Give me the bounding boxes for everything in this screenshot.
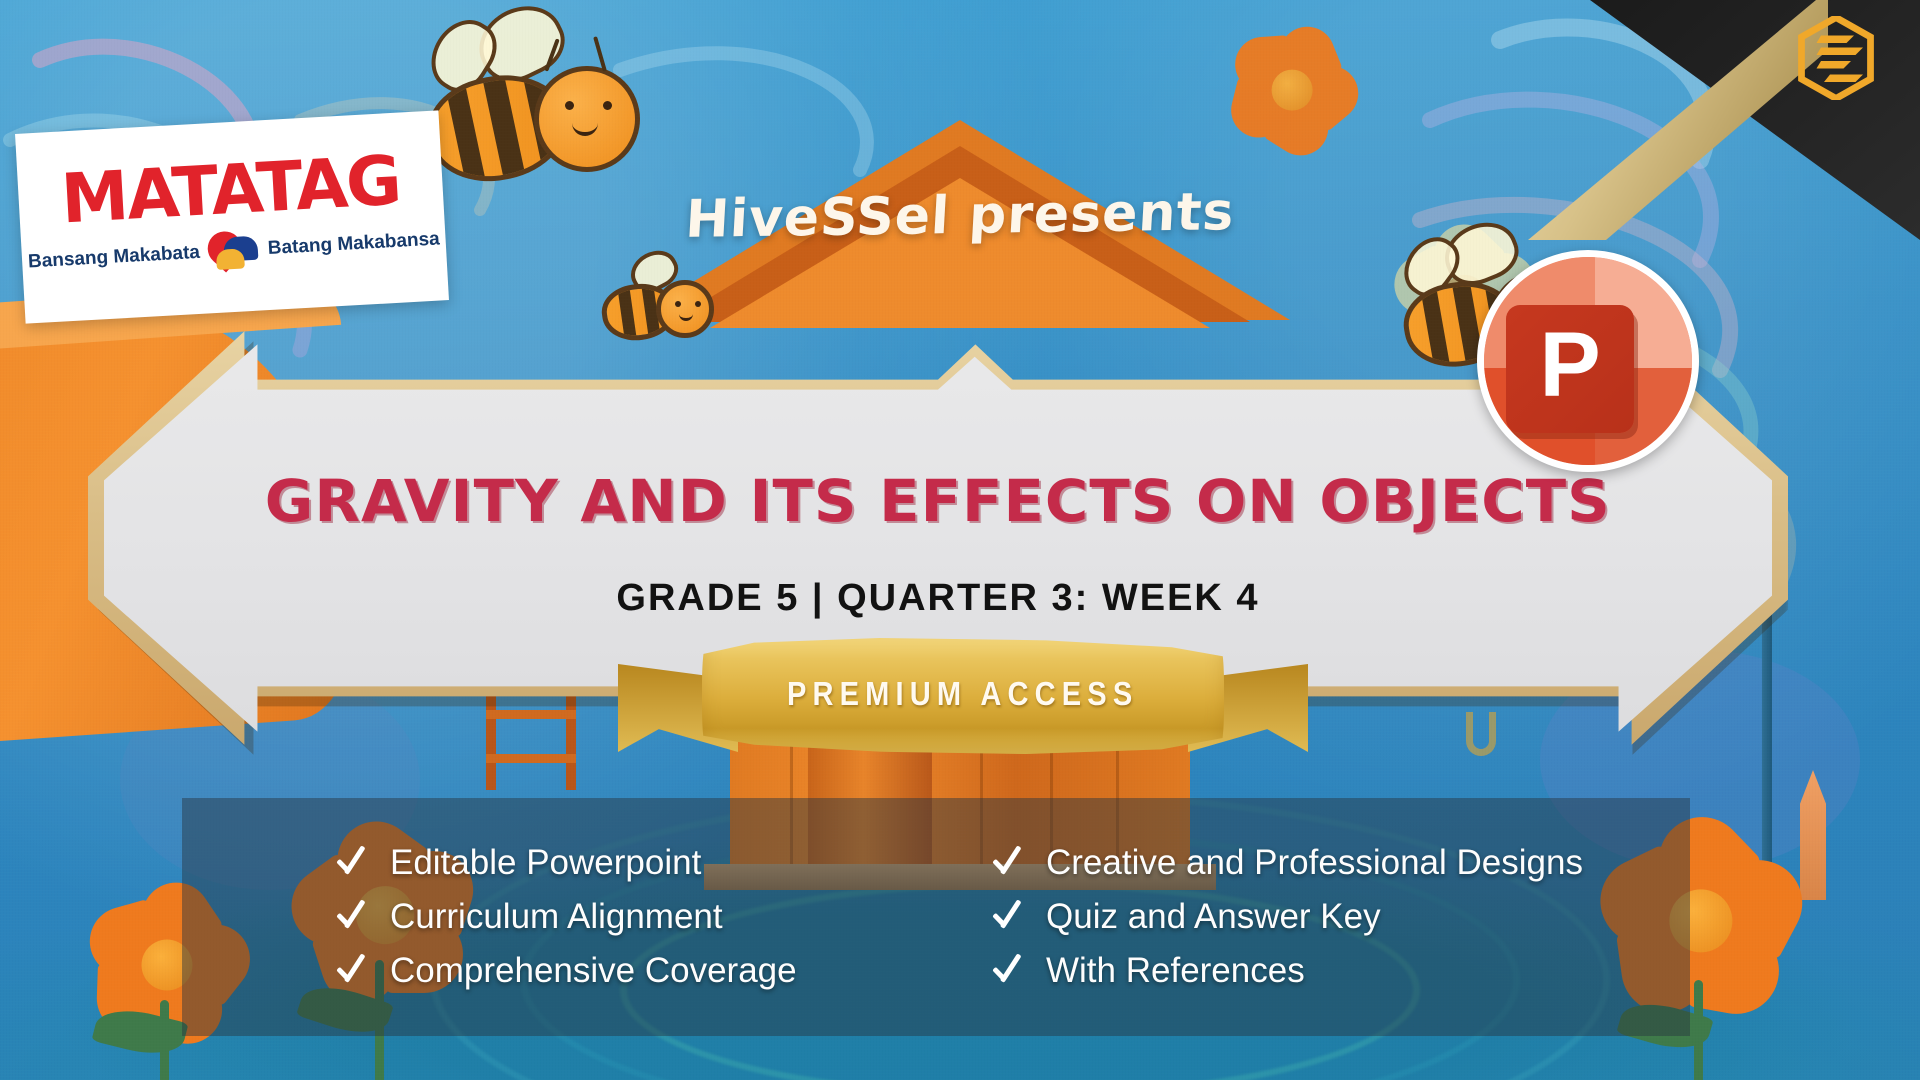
check-mark-icon <box>332 896 374 938</box>
feature-label: With References <box>1046 952 1305 991</box>
feature-item: Quiz and Answer Key <box>988 896 1644 938</box>
flower <box>1232 30 1352 150</box>
page-subtitle: GRADE 5 | QUARTER 3: WEEK 4 <box>616 577 1259 620</box>
feature-label: Editable Powerpoint <box>390 844 701 883</box>
ribbon-body: PREMIUM ACCESS <box>702 638 1224 754</box>
matatag-tagline-left: Bansang Makabata <box>27 242 200 274</box>
bee-eye <box>695 301 701 307</box>
matatag-logo: MATATAG Bansang Makabata Batang Makabans… <box>15 110 449 323</box>
feature-item: With References <box>988 950 1644 992</box>
feature-label: Quiz and Answer Key <box>1046 898 1381 937</box>
powerpoint-letter: P <box>1539 319 1600 411</box>
ribbon-label: PREMIUM ACCESS <box>787 675 1138 713</box>
feature-item: Comprehensive Coverage <box>332 950 988 992</box>
check-mark-icon <box>988 950 1030 992</box>
features-panel: Editable Powerpoint Creative and Profess… <box>182 798 1690 1036</box>
check-mark-icon <box>988 842 1030 884</box>
bee-eye <box>565 101 574 110</box>
feature-label: Curriculum Alignment <box>390 898 723 937</box>
feature-label: Comprehensive Coverage <box>390 952 797 991</box>
feature-item: Curriculum Alignment <box>332 896 988 938</box>
hexagon-honeycomb-logo <box>1798 16 1874 100</box>
bee-eye <box>675 301 681 307</box>
feature-item: Creative and Professional Designs <box>988 842 1644 884</box>
feature-label: Creative and Professional Designs <box>1046 844 1583 883</box>
bee-large <box>420 10 650 210</box>
page-title: GRAVITY AND ITS EFFECTS ON OBJECTS <box>265 467 1611 535</box>
premium-ribbon: PREMIUM ACCESS <box>618 638 1308 778</box>
bee-eye <box>603 101 612 110</box>
microsoft-powerpoint-icon: P <box>1477 250 1699 472</box>
feature-item: Editable Powerpoint <box>332 842 988 884</box>
check-mark-icon <box>332 842 374 884</box>
check-mark-icon <box>332 950 374 992</box>
matatag-tagline-right: Batang Makabansa <box>267 228 440 260</box>
bee-smile <box>572 123 598 136</box>
powerpoint-tile: P <box>1506 305 1634 433</box>
check-mark-icon <box>988 896 1030 938</box>
presentation-slide: HiveSSel presents MATATAG Bansang Makaba… <box>0 0 1920 1080</box>
matatag-emblem-icon <box>205 227 263 274</box>
bee-head <box>534 66 640 172</box>
